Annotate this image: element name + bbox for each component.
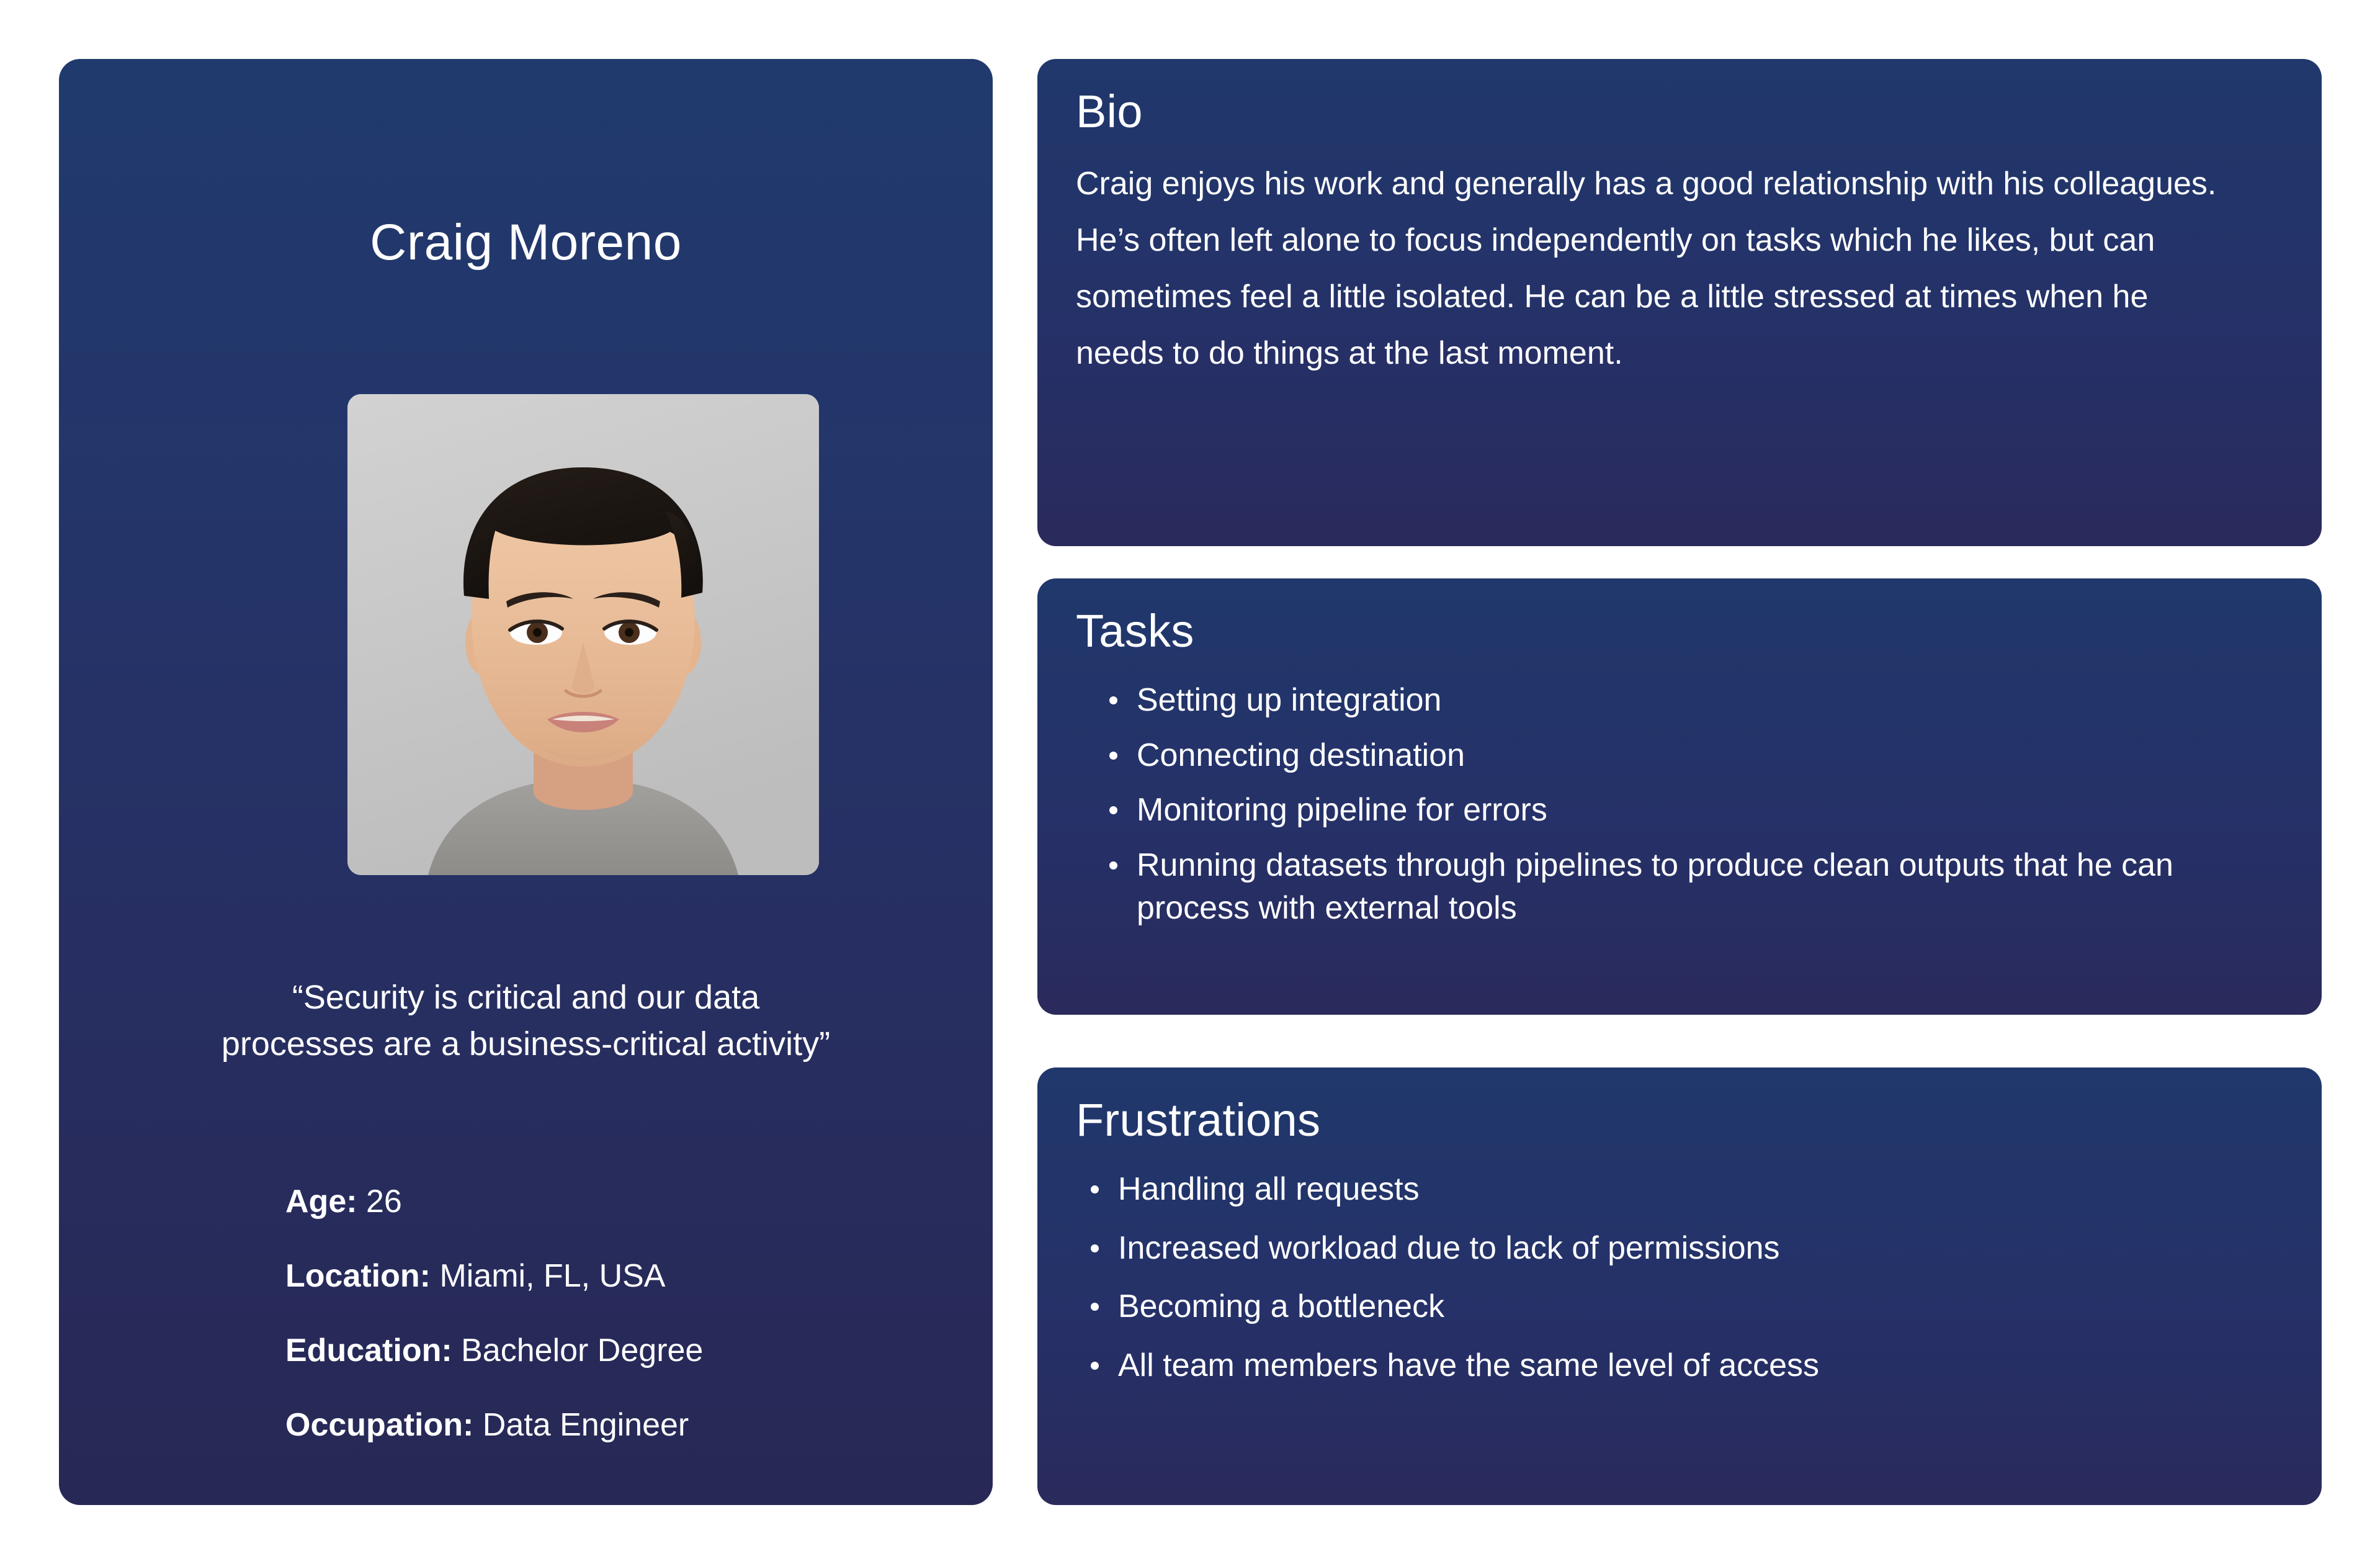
fact-value-location: Miami, FL, USA [439, 1258, 665, 1294]
fact-value-education: Bachelor Degree [461, 1333, 703, 1368]
bio-title: Bio [1076, 89, 2283, 135]
persona-facts: Age: 26 Location: Miami, FL, USA Educati… [285, 1185, 968, 1441]
list-item: Running datasets through pipelines to pr… [1098, 844, 2283, 929]
fact-value-occupation: Data Engineer [483, 1407, 689, 1443]
list-item: Increased workload due to lack of permis… [1080, 1227, 2283, 1270]
fact-row-education: Education: Bachelor Degree [285, 1334, 968, 1367]
frustrations-list: Handling all requests Increased workload… [1080, 1168, 2283, 1387]
tasks-card: Tasks Setting up integration Connecting … [1037, 578, 2322, 1015]
portrait-photo-icon [347, 394, 819, 875]
persona-board: Craig Moreno [0, 0, 2380, 1564]
fact-row-location: Location: Miami, FL, USA [285, 1260, 968, 1292]
fact-label-occupation: Occupation: [285, 1407, 473, 1443]
tasks-list: Setting up integration Connecting destin… [1098, 679, 2283, 929]
list-item: Monitoring pipeline for errors [1098, 789, 2283, 832]
fact-label-education: Education: [285, 1333, 452, 1368]
profile-card: Craig Moreno [59, 59, 993, 1505]
frustrations-card: Frustrations Handling all requests Incre… [1037, 1067, 2322, 1505]
persona-quote: “Security is critical and our data proce… [133, 974, 918, 1067]
fact-row-age: Age: 26 [285, 1185, 968, 1218]
list-item: All team members have the same level of … [1080, 1344, 2283, 1387]
page-title: Craig Moreno [59, 217, 993, 268]
avatar [347, 394, 819, 875]
bio-card: Bio Craig enjoys his work and generally … [1037, 59, 2322, 546]
fact-value-age: 26 [366, 1184, 402, 1220]
tasks-title: Tasks [1076, 608, 2283, 654]
list-item: Connecting destination [1098, 734, 2283, 777]
list-item: Setting up integration [1098, 679, 2283, 722]
fact-row-occupation: Occupation: Data Engineer [285, 1409, 968, 1441]
list-item: Handling all requests [1080, 1168, 2283, 1211]
frustrations-title: Frustrations [1076, 1097, 2283, 1143]
fact-label-location: Location: [285, 1258, 431, 1294]
list-item: Becoming a bottleneck [1080, 1285, 2283, 1328]
fact-label-age: Age: [285, 1184, 357, 1220]
bio-text: Craig enjoys his work and generally has … [1076, 156, 2242, 382]
